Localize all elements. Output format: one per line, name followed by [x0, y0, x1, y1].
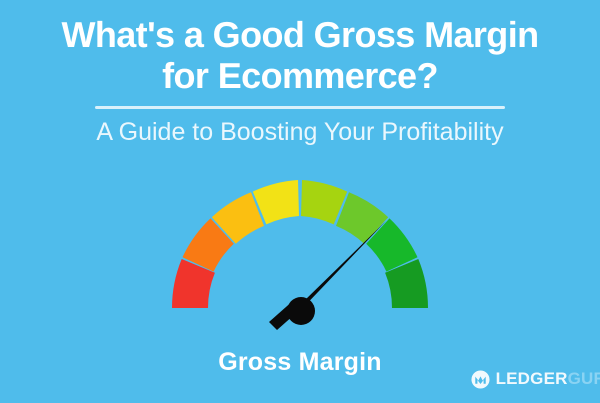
gauge-needle-hub: [287, 297, 315, 325]
ledgergurus-circle-m-icon: [471, 370, 490, 389]
title-line-1: What's a Good Gross Margin: [61, 14, 538, 55]
gauge-svg: [165, 165, 435, 355]
title-line-2: for Ecommerce?: [162, 55, 438, 96]
gauge-segments: [172, 180, 428, 308]
poster-header: What's a Good Gross Margin for Ecommerce…: [0, 0, 600, 147]
brand-logo-text-primary: LEDGER: [496, 369, 568, 388]
poster-canvas: What's a Good Gross Margin for Ecommerce…: [0, 0, 600, 403]
brand-logo-text: LEDGERGUR: [496, 369, 600, 389]
gauge-chart: [165, 165, 435, 355]
page-subtitle: A Guide to Boosting Your Profitability: [0, 109, 600, 147]
brand-logo[interactable]: LEDGERGUR: [471, 369, 600, 389]
brand-logo-text-secondary: GUR: [568, 369, 600, 388]
page-title: What's a Good Gross Margin for Ecommerce…: [0, 0, 600, 96]
